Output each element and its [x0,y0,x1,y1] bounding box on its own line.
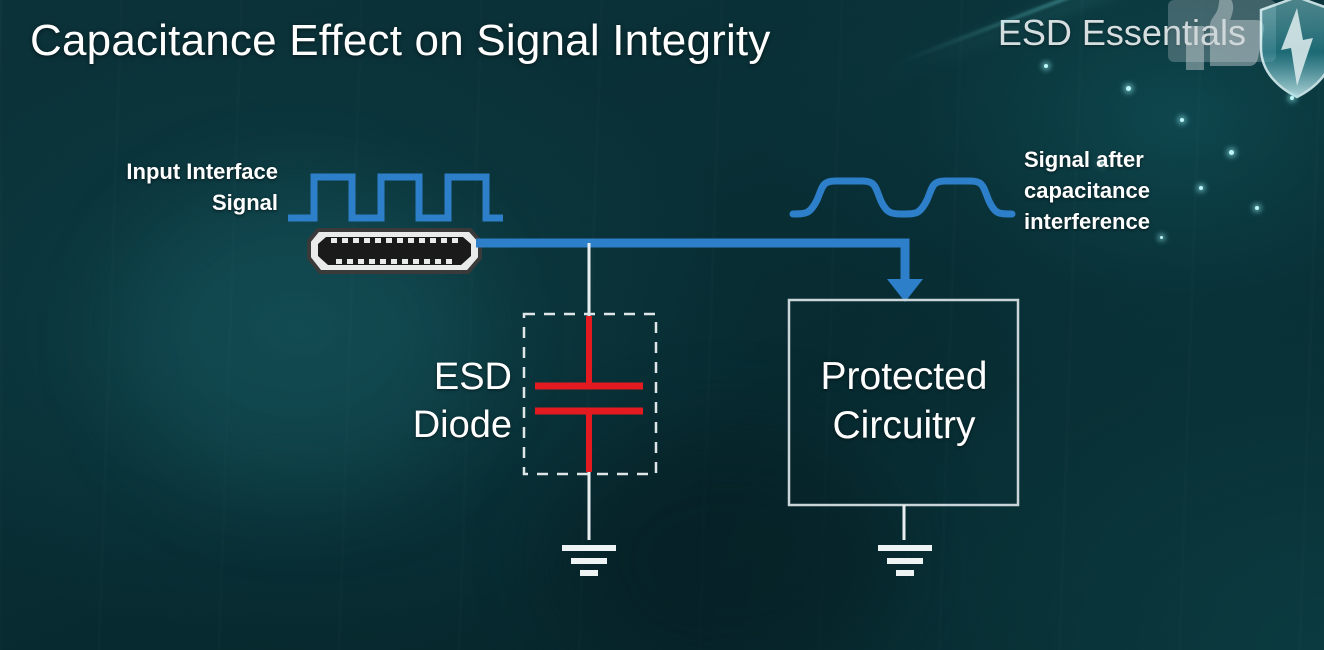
signal-trace [476,243,923,302]
ground-icon [562,548,616,573]
protected-circuitry-label: Protected Circuitry [790,352,1018,450]
circuit-diagram [0,0,1324,650]
esd-diode-label: ESD Diode [330,354,512,450]
capacitor-icon [535,316,643,472]
arrow-down-icon [887,279,923,302]
output-waveform [793,181,1012,214]
input-waveform [288,177,503,218]
ground-icon [878,548,932,573]
slide-canvas: Capacitance Effect on Signal Integrity E… [0,0,1324,650]
hdmi-connector-icon [309,230,480,272]
